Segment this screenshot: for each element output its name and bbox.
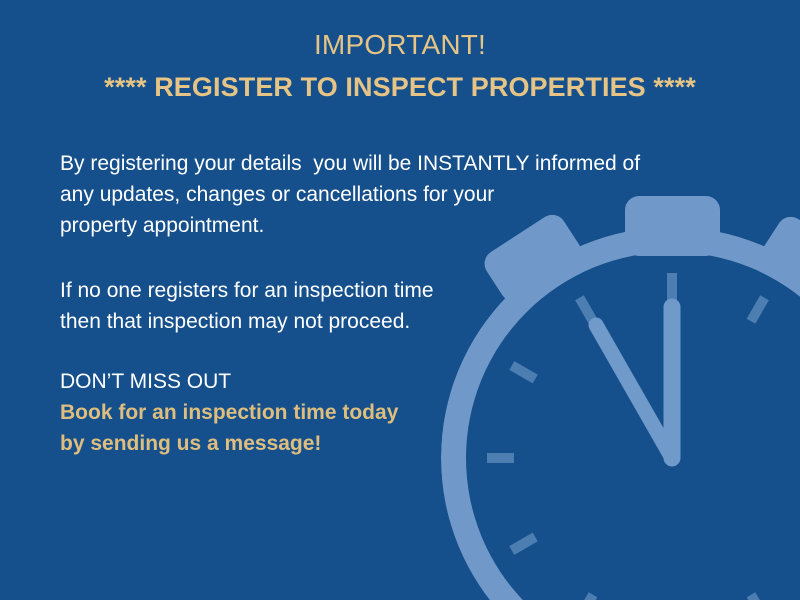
cta-dont-miss-out: DON’T MISS OUT bbox=[60, 366, 720, 397]
cta-book-inspection: Book for an inspection time today bbox=[60, 397, 720, 428]
slide-canvas: IMPORTANT! **** REGISTER TO INSPECT PROP… bbox=[0, 0, 800, 600]
paragraph-call-to-action: DON’T MISS OUT Book for an inspection ti… bbox=[60, 366, 720, 459]
paragraph2-line1: If no one registers for an inspection ti… bbox=[60, 275, 720, 306]
paragraph2-line2: then that inspection may not proceed. bbox=[60, 306, 720, 337]
paragraph-registering-details: By registering your details you will be … bbox=[60, 148, 720, 241]
headline-block: IMPORTANT! **** REGISTER TO INSPECT PROP… bbox=[0, 28, 800, 105]
paragraph1-line2: any updates, changes or cancellations fo… bbox=[60, 179, 720, 210]
cta-send-message: by sending us a message! bbox=[60, 428, 720, 459]
headline-important: IMPORTANT! bbox=[0, 28, 800, 62]
paragraph1-line3: property appointment. bbox=[60, 210, 720, 241]
paragraph1-line1: By registering your details you will be … bbox=[60, 148, 720, 179]
headline-register: **** REGISTER TO INSPECT PROPERTIES **** bbox=[0, 69, 800, 105]
slide-text-content: IMPORTANT! **** REGISTER TO INSPECT PROP… bbox=[0, 0, 800, 600]
paragraph-no-registration-warning: If no one registers for an inspection ti… bbox=[60, 275, 720, 337]
